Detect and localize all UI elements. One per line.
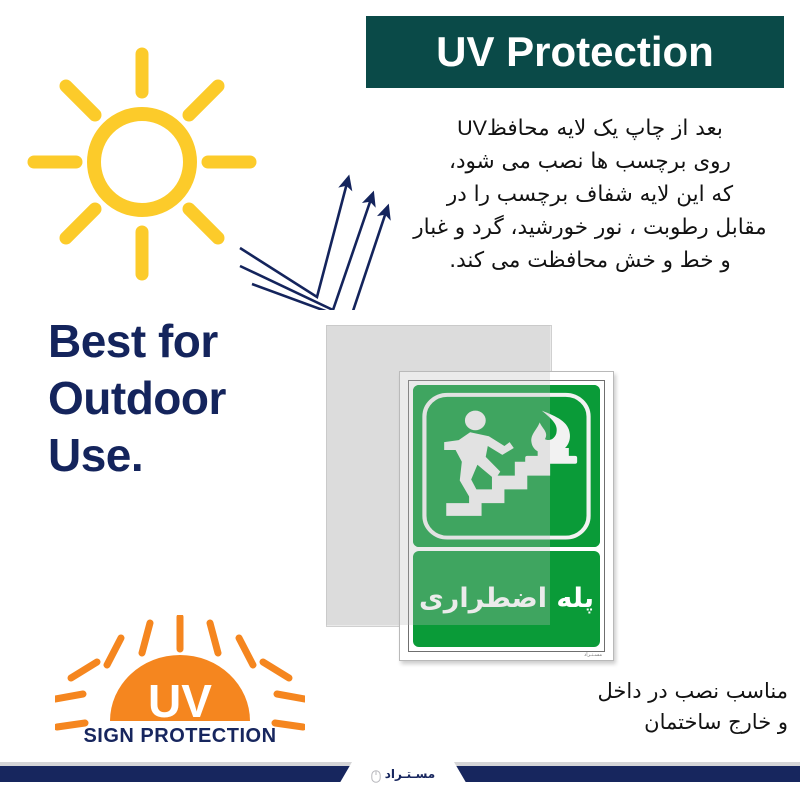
installation-note-line-2: و خارج ساختمان — [400, 707, 788, 738]
headline-line-1: Best for — [48, 313, 338, 370]
headline-line-2: Outdoor — [48, 370, 338, 427]
description-line-5: و خط و خش محافظت می کند. — [392, 244, 788, 277]
description-line-2: روی برچسب ها نصب می شود، — [392, 145, 788, 178]
sign-caption-panel: پله اضطراری — [413, 551, 600, 647]
logo-uv-text: UV — [148, 675, 212, 727]
mouse-icon — [371, 768, 381, 781]
installation-note: مناسب نصب در داخل و خارج ساختمان — [400, 676, 788, 738]
sign-watermark: مسـتـراد — [584, 652, 602, 658]
description-line-1: بعد از چاپ یک لایه محافظUV — [392, 112, 788, 145]
sign-inner-frame: پله اضطراری — [408, 380, 605, 652]
page-title: UV Protection — [436, 31, 714, 73]
description-line-3: که این لایه شفاف برچسب را در — [392, 178, 788, 211]
headline: Best for Outdoor Use. — [48, 313, 338, 484]
description-paragraph: بعد از چاپ یک لایه محافظUV روی برچسب ها … — [392, 112, 788, 277]
uv-sign-protection-logo: UV SIGN PROTECTION — [55, 615, 305, 765]
description-line-4: مقابل رطوبت ، نور خورشید، گرد و غبار — [392, 211, 788, 244]
infographic-canvas: UV Protection بعد از چاپ یک لایه محافظUV… — [0, 0, 800, 800]
sign-pictogram-panel — [413, 385, 600, 547]
footer-brand-text: مسـتـراد — [385, 767, 435, 781]
headline-line-3: Use. — [48, 427, 338, 484]
installation-note-line-1: مناسب نصب در داخل — [400, 676, 788, 707]
uv-token: UV — [457, 116, 487, 140]
sun-illustration — [22, 42, 262, 282]
uv-reflection-arrows — [238, 160, 398, 310]
emergency-stairs-sign: پله اضطراری مسـتـراد — [399, 371, 614, 661]
header-band: UV Protection — [366, 16, 784, 88]
footer-brand-notch: مسـتـراد — [338, 762, 468, 786]
logo-tagline-text: SIGN PROTECTION — [83, 725, 276, 747]
sign-caption-text: پله اضطراری — [419, 585, 594, 614]
